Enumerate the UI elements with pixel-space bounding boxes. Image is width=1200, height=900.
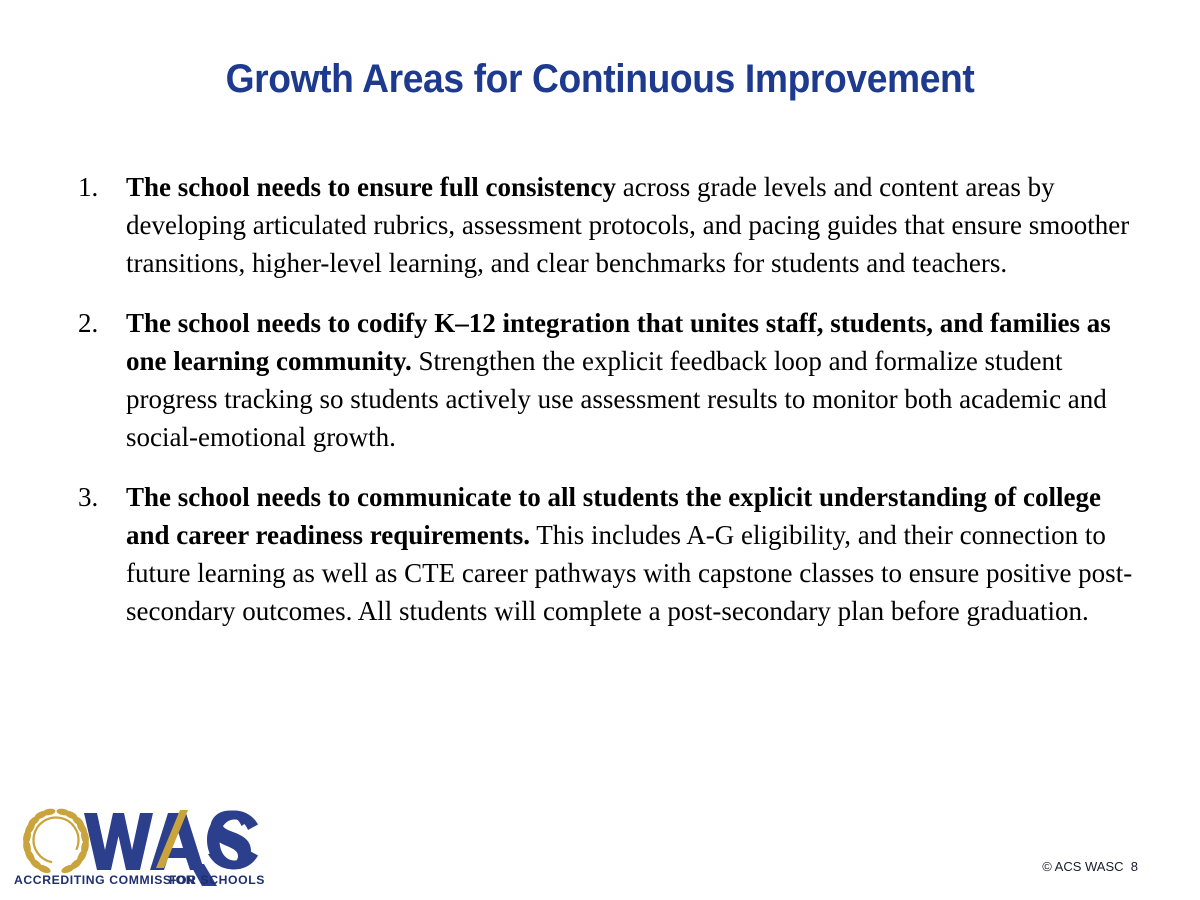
list-item-text: The school needs to communicate to all s… <box>126 478 1140 630</box>
wasc-logo: ACCREDITING COMMISSION FOR SCHOOLS <box>14 806 276 888</box>
logo-tagline-right: FOR SCHOOLS <box>169 873 265 887</box>
list-item-text: The school needs to ensure full consiste… <box>126 168 1140 282</box>
list-item-lead: The school needs to ensure full consiste… <box>126 172 616 202</box>
logo-tagline-left: ACCREDITING COMMISSION <box>14 873 195 887</box>
growth-areas-list: 1. The school needs to ensure full consi… <box>70 168 1140 630</box>
list-item-number: 3. <box>70 478 126 516</box>
list-item-text: The school needs to codify K–12 integrat… <box>126 304 1140 456</box>
page-title: Growth Areas for Continuous Improvement <box>42 55 1158 103</box>
wasc-logo-graphic: ACCREDITING COMMISSION FOR SCHOOLS <box>14 806 276 888</box>
list-item-number: 2. <box>70 304 126 342</box>
footer-copyright: © ACS WASC 8 <box>1042 858 1138 876</box>
list-item-number: 1. <box>70 168 126 206</box>
laurel-wreath-icon <box>22 808 90 875</box>
slide-canvas: Growth Areas for Continuous Improvement … <box>0 0 1200 900</box>
list-item: 1. The school needs to ensure full consi… <box>70 168 1140 282</box>
list-item: 3. The school needs to communicate to al… <box>70 478 1140 630</box>
list-item: 2. The school needs to codify K–12 integ… <box>70 304 1140 456</box>
